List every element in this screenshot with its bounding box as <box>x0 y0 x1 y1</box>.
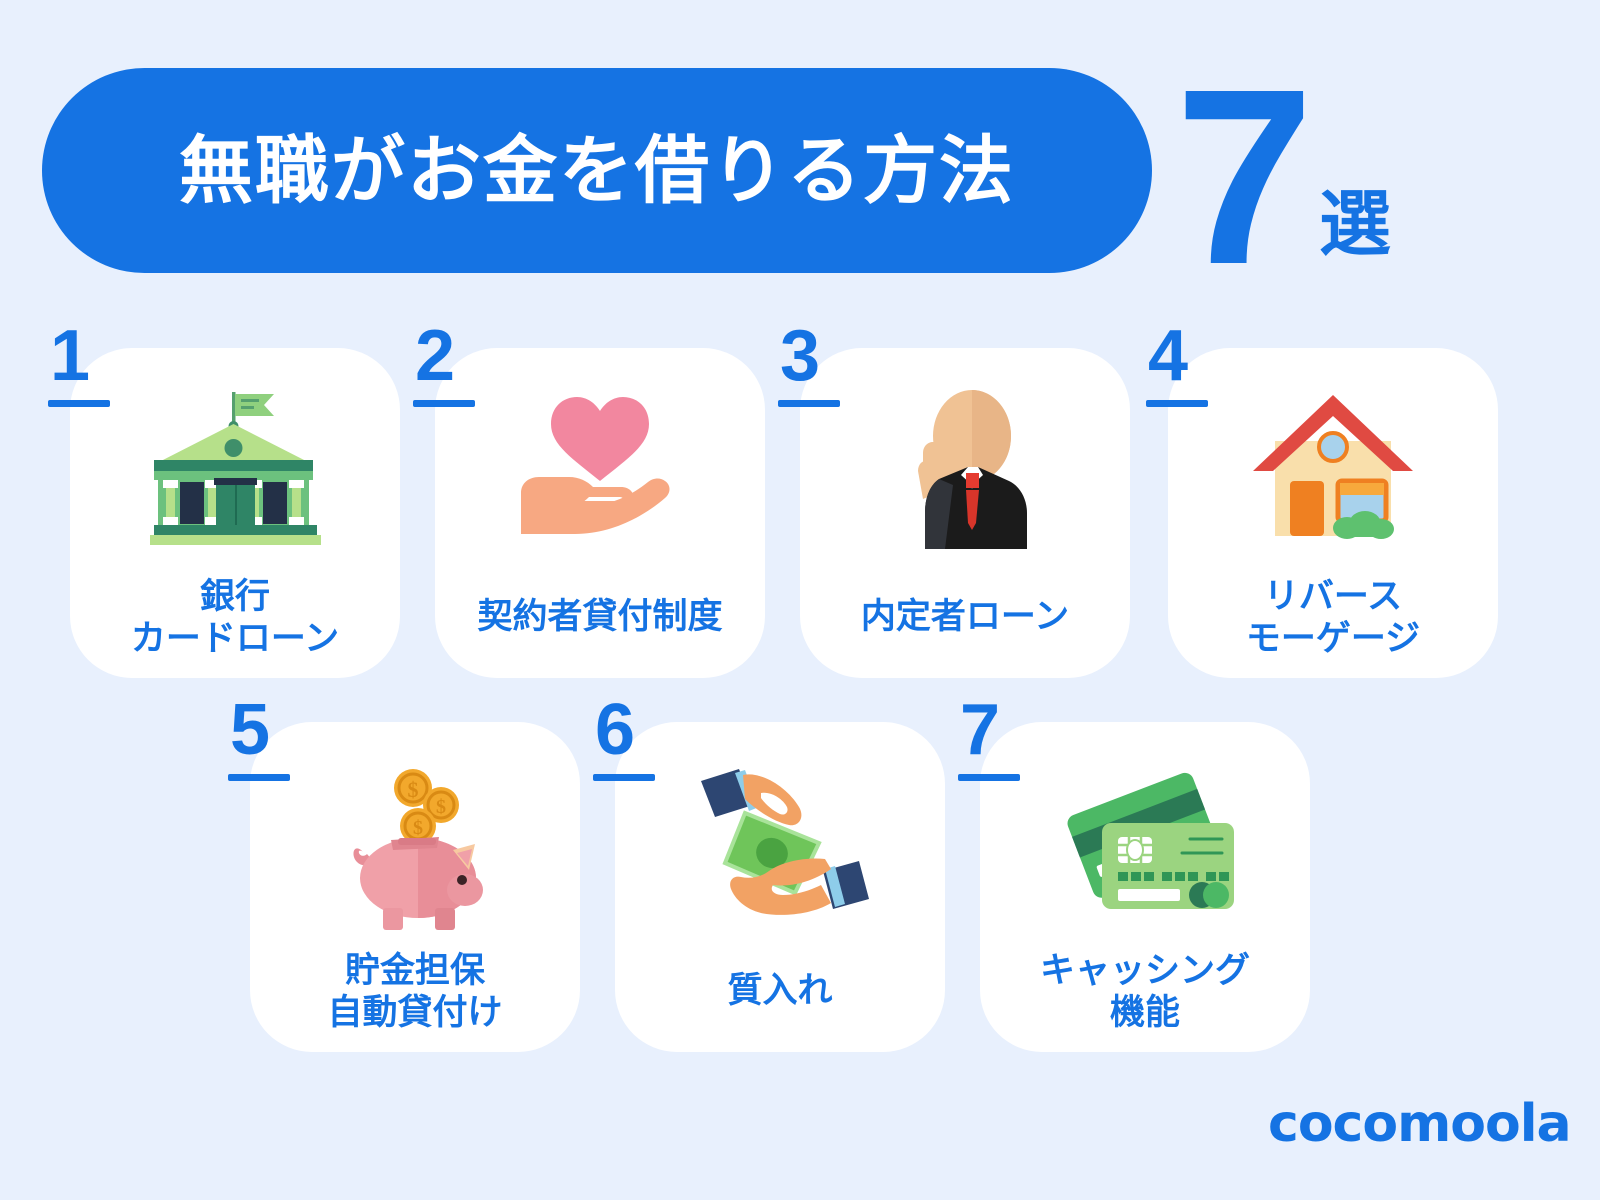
page-title: 無職がお金を借りる方法 <box>179 134 1015 208</box>
card-label: 契約者貸付制度 <box>435 597 765 638</box>
card-policyholder-loan[interactable]: 2 契約者貸付制度 <box>435 348 765 678</box>
card-pawn[interactable]: 6 質入れ <box>615 722 945 1052</box>
card-label: 内定者ローン <box>800 597 1130 638</box>
count-number: 7 <box>1175 52 1314 302</box>
money-exchange-hands-icon <box>615 750 945 940</box>
svg-text:$: $ <box>413 817 423 839</box>
card-label: キャッシング 機能 <box>980 951 1310 1034</box>
card-label: 銀行 カードローン <box>70 577 400 660</box>
card-savings-secured-loan[interactable]: 5 $ $ $ <box>250 722 580 1052</box>
businessman-raising-hand-icon <box>800 376 1130 566</box>
svg-text:$: $ <box>407 777 418 802</box>
card-job-offer-loan[interactable]: 3 内定者ローン <box>800 348 1130 678</box>
bank-building-icon <box>70 376 400 566</box>
card-label: 貯金担保 自動貸付け <box>250 951 580 1034</box>
card-label: 質入れ <box>615 971 945 1012</box>
title-pill: 無職がお金を借りる方法 <box>42 68 1152 273</box>
card-label: リバース モーゲージ <box>1168 577 1498 660</box>
count-suffix: 選 <box>1319 188 1391 260</box>
card-cashing-function[interactable]: 7 <box>980 722 1310 1052</box>
piggy-bank-icon: $ $ $ <box>250 750 580 940</box>
svg-text:$: $ <box>436 796 446 818</box>
house-icon <box>1168 376 1498 566</box>
credit-cards-icon <box>980 750 1310 940</box>
card-bank-card-loan[interactable]: 1 <box>70 348 400 678</box>
heart-in-hand-icon <box>435 376 765 566</box>
count-badge: 7 選 <box>1175 60 1435 290</box>
cocomoola-logo: cocomoola <box>1268 1098 1571 1150</box>
header: 無職がお金を借りる方法 7 選 <box>0 0 1600 320</box>
card-reverse-mortgage[interactable]: 4 リバース モーゲージ <box>1168 348 1498 678</box>
